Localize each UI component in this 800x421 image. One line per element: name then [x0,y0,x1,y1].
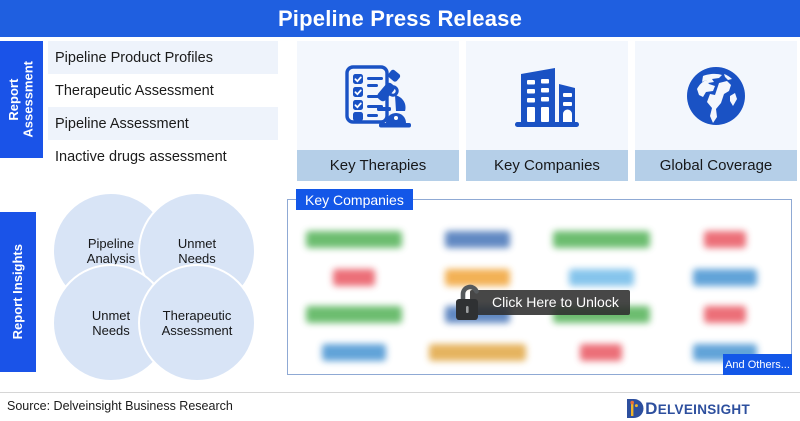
unlock-overlay[interactable]: Click Here to Unlock [452,282,630,322]
company-logo [306,306,403,323]
card-key-companies[interactable]: Key Companies [466,41,628,181]
unlock-button-label: Click Here to Unlock [492,294,619,310]
report-insights-side-label-text: Report Insights [11,244,26,339]
company-logo [445,231,509,248]
assessment-item-label: Inactive drugs assessment [55,149,227,165]
and-others-label: And Others... [725,359,790,371]
company-logo [704,231,746,248]
assessment-item-pipeline-assessment[interactable]: Pipeline Assessment [48,107,278,140]
key-companies-panel-tag: Key Companies [296,189,413,210]
venn-diagram: Pipeline Analysis Unmet Needs Unmet Need… [46,190,270,385]
company-logo [704,306,746,323]
brand-capital: D [645,399,658,418]
company-logo [429,344,526,361]
company-logo [580,344,622,361]
page-footer: Source: Delveinsight Business Research D… [0,392,800,421]
assessment-item-pipeline-product-profiles[interactable]: Pipeline Product Profiles [48,41,278,74]
venn-circle-therapeutic-assessment: Therapeutic Assessment [138,264,256,382]
page-title: Pipeline Press Release [278,6,522,32]
company-logo [306,231,403,248]
page-header: Pipeline Press Release [0,0,800,37]
assessment-item-label: Pipeline Product Profiles [55,50,213,66]
source-label: Source: Delveinsight Business Research [7,399,233,413]
feature-card-row: Key Therapies [297,41,797,181]
assessment-item-label: Therapeutic Assessment [55,83,214,99]
buildings-icon [466,41,628,150]
assessment-item-therapeutic-assessment[interactable]: Therapeutic Assessment [48,74,278,107]
key-companies-panel-tag-text: Key Companies [305,192,404,208]
delveinsight-monogram-icon [626,398,645,419]
unlock-button[interactable]: Click Here to Unlock [470,290,630,315]
card-global-coverage[interactable]: Global Coverage [635,41,797,181]
report-insights-section: Report Insights Pipeline Analysis Unmet … [0,190,280,385]
card-global-coverage-label: Global Coverage [635,150,797,181]
report-assessment-side-label-text: Report Assessment [7,61,36,138]
assessment-item-label: Pipeline Assessment [55,116,189,132]
report-insights-side-label: Report Insights [0,212,36,372]
open-padlock-icon [452,282,486,322]
company-logo [333,269,375,286]
and-others-badge[interactable]: And Others... [723,354,792,375]
company-logo [553,231,650,248]
company-logo [322,344,386,361]
report-assessment-side-label: Report Assessment [0,41,43,158]
checklist-microscope-icon [297,41,459,150]
report-assessment-list: Pipeline Product Profiles Therapeutic As… [48,41,278,174]
delveinsight-logo: DELVEINSIGHT [626,398,750,419]
brand-rest: ELVEINSIGHT [658,402,750,417]
company-logo [693,269,757,286]
assessment-item-inactive-drugs-assessment[interactable]: Inactive drugs assessment [48,140,278,173]
delveinsight-wordmark: DELVEINSIGHT [645,399,750,419]
card-key-companies-label: Key Companies [466,150,628,181]
card-key-therapies[interactable]: Key Therapies [297,41,459,181]
card-key-therapies-label: Key Therapies [297,150,459,181]
globe-icon [635,41,797,150]
